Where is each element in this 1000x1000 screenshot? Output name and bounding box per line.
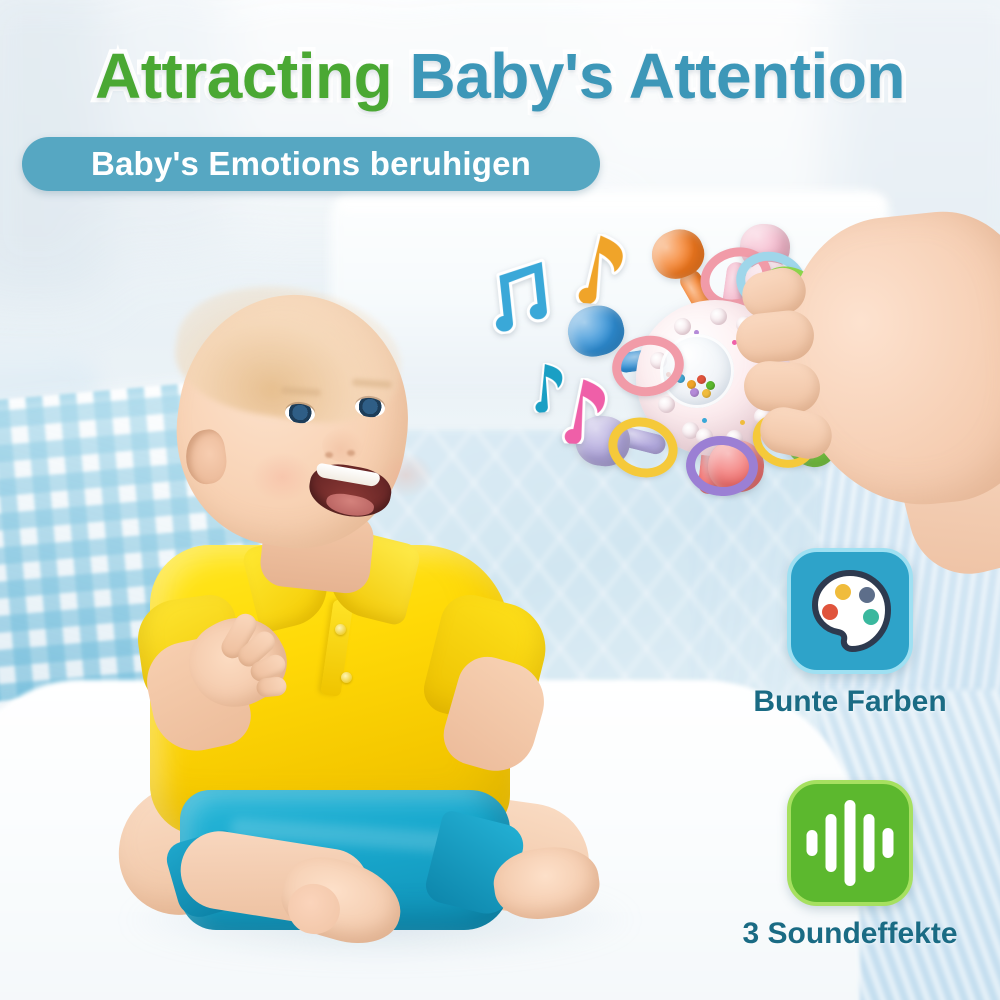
eighth-note-pink-icon — [551, 377, 615, 445]
palette-glyph — [806, 567, 894, 655]
beamed-eighth-notes-icon — [482, 255, 559, 336]
headline-part-green: Attracting — [95, 40, 392, 112]
sound-wave-icon — [787, 780, 913, 906]
palette-dot-yellow — [835, 584, 851, 600]
feature-colors-label: Bunte Farben — [700, 685, 1000, 719]
product-marketing-image: Attracting Baby's Attention Baby's Emoti… — [0, 0, 1000, 1000]
sound-bar — [845, 800, 856, 886]
headline-part-blue: Baby's Attention — [409, 40, 905, 112]
feature-sound: 3 Soundeffekte — [700, 780, 1000, 951]
color-palette-icon — [787, 548, 913, 674]
palette-dot-red — [822, 604, 838, 620]
sound-wave-bars — [807, 800, 894, 886]
palette-dot-teal — [863, 609, 879, 625]
palette-dot-slate — [859, 587, 875, 603]
sound-bar — [864, 814, 875, 872]
eighth-note-orange-icon — [564, 232, 635, 306]
sound-bar — [883, 828, 894, 858]
sound-bar — [807, 830, 818, 856]
feature-sound-label: 3 Soundeffekte — [700, 917, 1000, 951]
page-title: Attracting Baby's Attention — [0, 44, 1000, 108]
subtitle-badge-label: Baby's Emotions beruhigen — [91, 145, 531, 183]
subtitle-badge: Baby's Emotions beruhigen — [22, 137, 600, 191]
feature-colors: Bunte Farben — [700, 548, 1000, 719]
sound-bar — [826, 814, 837, 872]
